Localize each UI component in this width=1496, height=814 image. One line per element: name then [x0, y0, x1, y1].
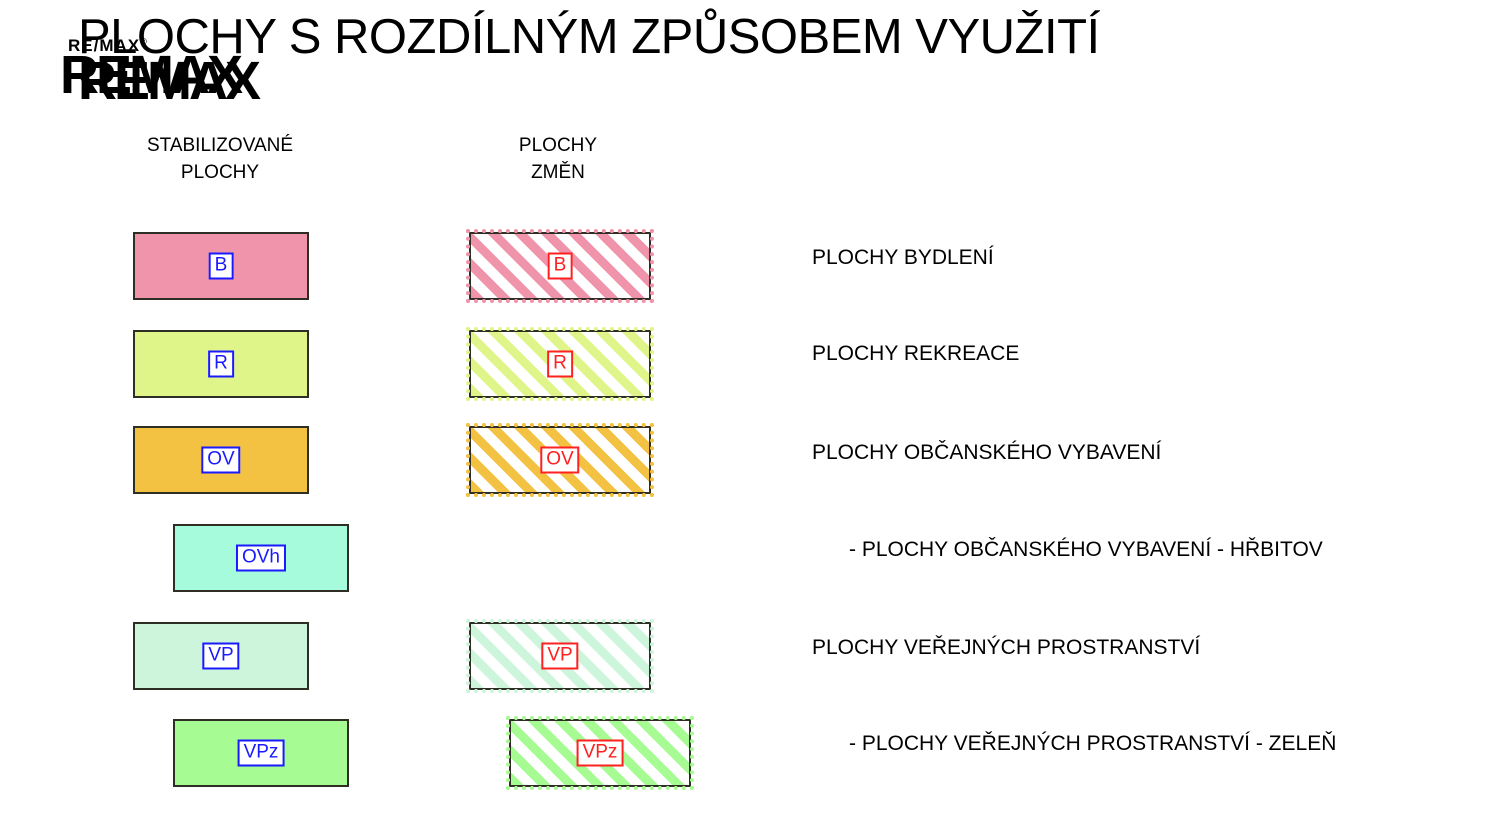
legend-description: - PLOCHY VEŘEJNÝCH PROSTRANSTVÍ - ZELEŇ: [849, 731, 1336, 757]
legend-row: BB: [0, 232, 1496, 312]
swatch-stabilized-vpz[interactable]: VPz: [173, 719, 349, 787]
legend-description: PLOCHY OBČANSKÉHO VYBAVENÍ: [812, 440, 1161, 466]
legend-row: VPVP: [0, 622, 1496, 702]
legend-row: OVh: [0, 524, 1496, 604]
swatch-code-label: VPz: [577, 740, 624, 767]
page-title: PLOCHY S ROZDÍLNÝM ZPŮSOBEM VYUŽITÍ: [78, 8, 1100, 66]
swatch-code-label: VP: [541, 643, 578, 670]
swatch-code-label: OV: [540, 447, 579, 474]
swatch-stabilized-r[interactable]: R: [133, 330, 309, 398]
swatch-code-label: OV: [201, 447, 240, 474]
swatch-code-label: R: [208, 351, 234, 378]
swatch-change-vpz[interactable]: VPz: [509, 719, 691, 787]
swatch-change-r[interactable]: R: [469, 330, 651, 398]
swatch-code-label: B: [209, 253, 234, 280]
legend-description: PLOCHY BYDLENÍ: [812, 245, 994, 271]
swatch-code-label: OVh: [236, 545, 286, 572]
legend-row: RR: [0, 330, 1496, 410]
legend-description: PLOCHY REKREACE: [812, 341, 1019, 367]
column-header-stabilized: STABILIZOVANÉ PLOCHY: [120, 132, 320, 186]
swatch-change-b[interactable]: B: [469, 232, 651, 300]
swatch-code-label: B: [548, 253, 573, 280]
swatch-code-label: R: [547, 351, 573, 378]
swatch-change-vp[interactable]: VP: [469, 622, 651, 690]
swatch-code-label: VPz: [238, 740, 285, 767]
legend-description: PLOCHY VEŘEJNÝCH PROSTRANSTVÍ: [812, 635, 1200, 661]
swatch-stabilized-b[interactable]: B: [133, 232, 309, 300]
swatch-stabilized-vp[interactable]: VP: [133, 622, 309, 690]
column-header-changes: PLOCHY ZMĚN: [468, 132, 648, 186]
swatch-stabilized-ovh[interactable]: OVh: [173, 524, 349, 592]
legend-description: - PLOCHY OBČANSKÉHO VYBAVENÍ - HŘBITOV: [849, 537, 1323, 563]
swatch-stabilized-ov[interactable]: OV: [133, 426, 309, 494]
swatch-change-ov[interactable]: OV: [469, 426, 651, 494]
swatch-code-label: VP: [202, 643, 239, 670]
legend-row: OVOV: [0, 426, 1496, 506]
